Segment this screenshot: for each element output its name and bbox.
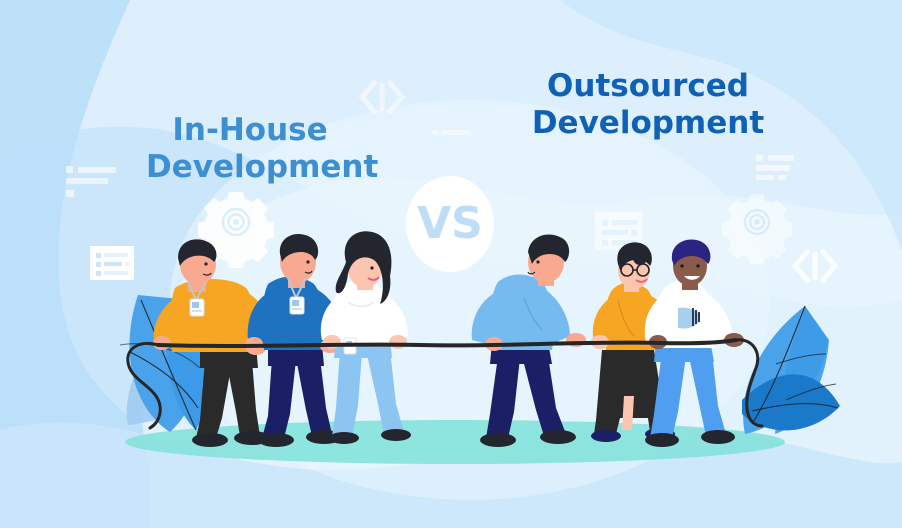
tshirt-graphic-icon (676, 306, 700, 330)
shoe (381, 429, 411, 441)
shoe (480, 433, 516, 447)
text-lines-icon-center (432, 130, 470, 135)
shoe (258, 433, 294, 447)
shoe (192, 433, 228, 447)
shoe (329, 432, 359, 444)
shoe (701, 430, 735, 444)
shoe (540, 430, 576, 444)
illustration-canvas: In-House Development Outsourced Developm… (0, 0, 902, 528)
gear-icon-right (722, 194, 792, 264)
list-card-icon-left (90, 246, 134, 280)
hand (389, 335, 407, 349)
shoe (645, 433, 679, 447)
vs-badge: VS (406, 176, 494, 272)
shoe (591, 430, 621, 442)
